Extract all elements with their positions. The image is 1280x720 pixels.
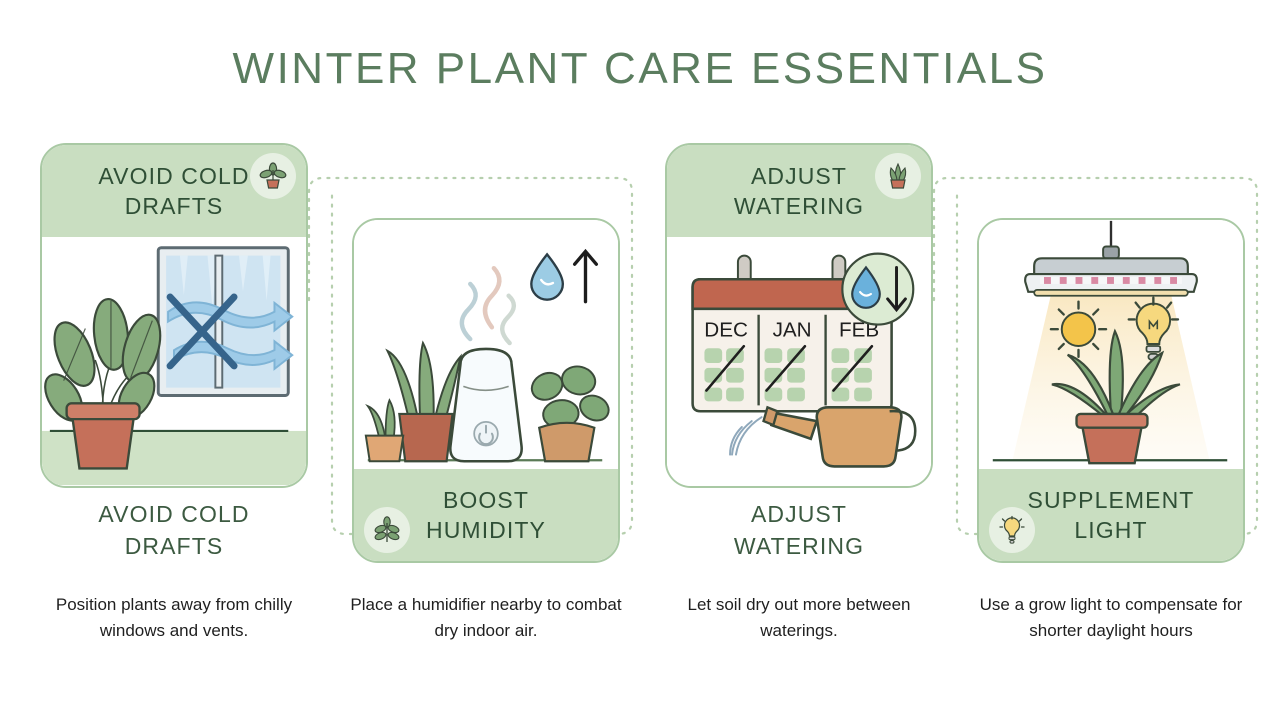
- card-adjust-watering[interactable]: DEC JAN FEB: [665, 143, 933, 488]
- card-2-band: BOOSTHUMIDITY: [354, 469, 618, 561]
- led-strip: [1040, 277, 1182, 284]
- card-3-band-title: ADJUSTWATERING: [734, 161, 864, 222]
- card-boost-humidity[interactable]: BOOSTHUMIDITY: [352, 218, 620, 563]
- caption-title-1: AVOID COLDDRAFTS: [40, 498, 308, 562]
- caption-desc-4: Use a grow light to compensate for short…: [967, 592, 1255, 645]
- less-water-icon: [842, 254, 913, 325]
- potted-plant-icon: [250, 153, 296, 199]
- card-supplement-light[interactable]: SUPPLEMENTLIGHT: [977, 218, 1245, 563]
- succulent-icon: [875, 153, 921, 199]
- card-1-band: AVOID COLDDRAFTS: [42, 145, 306, 237]
- caption-desc-2: Place a humidifier nearby to combat dry …: [342, 592, 630, 645]
- calendar-month-1: JAN: [773, 318, 812, 341]
- card-1-band-title: AVOID COLDDRAFTS: [98, 161, 249, 222]
- card-3-band: ADJUSTWATERING: [667, 145, 931, 237]
- card-2-band-title: BOOSTHUMIDITY: [426, 485, 546, 546]
- card-1-illustration: [42, 237, 306, 486]
- calendar-month-0: DEC: [704, 318, 748, 341]
- card-2-illustration: [354, 220, 618, 469]
- lightbulb-icon: [989, 507, 1035, 553]
- infographic-root: WINTER PLANT CARE ESSENTIALS: [0, 0, 1280, 720]
- page-title: WINTER PLANT CARE ESSENTIALS: [0, 44, 1280, 94]
- sprout-icon: [364, 507, 410, 553]
- connector-2-3: [332, 192, 352, 534]
- caption-title-3: ADJUSTWATERING: [665, 498, 933, 562]
- terracotta-pot-icon: [67, 403, 140, 468]
- card-4-band: SUPPLEMENTLIGHT: [979, 469, 1243, 561]
- card-avoid-cold-drafts[interactable]: AVOID COLDDRAFTS: [40, 143, 308, 488]
- caption-desc-3: Let soil dry out more between waterings.: [655, 592, 943, 645]
- card-3-illustration: DEC JAN FEB: [667, 237, 931, 486]
- caption-desc-1: Position plants away from chilly windows…: [30, 592, 318, 645]
- card-4-illustration: [979, 220, 1243, 469]
- connector-4-tail: [957, 192, 977, 534]
- card-4-band-title: SUPPLEMENTLIGHT: [1028, 485, 1195, 546]
- humidifier-icon: [450, 349, 521, 461]
